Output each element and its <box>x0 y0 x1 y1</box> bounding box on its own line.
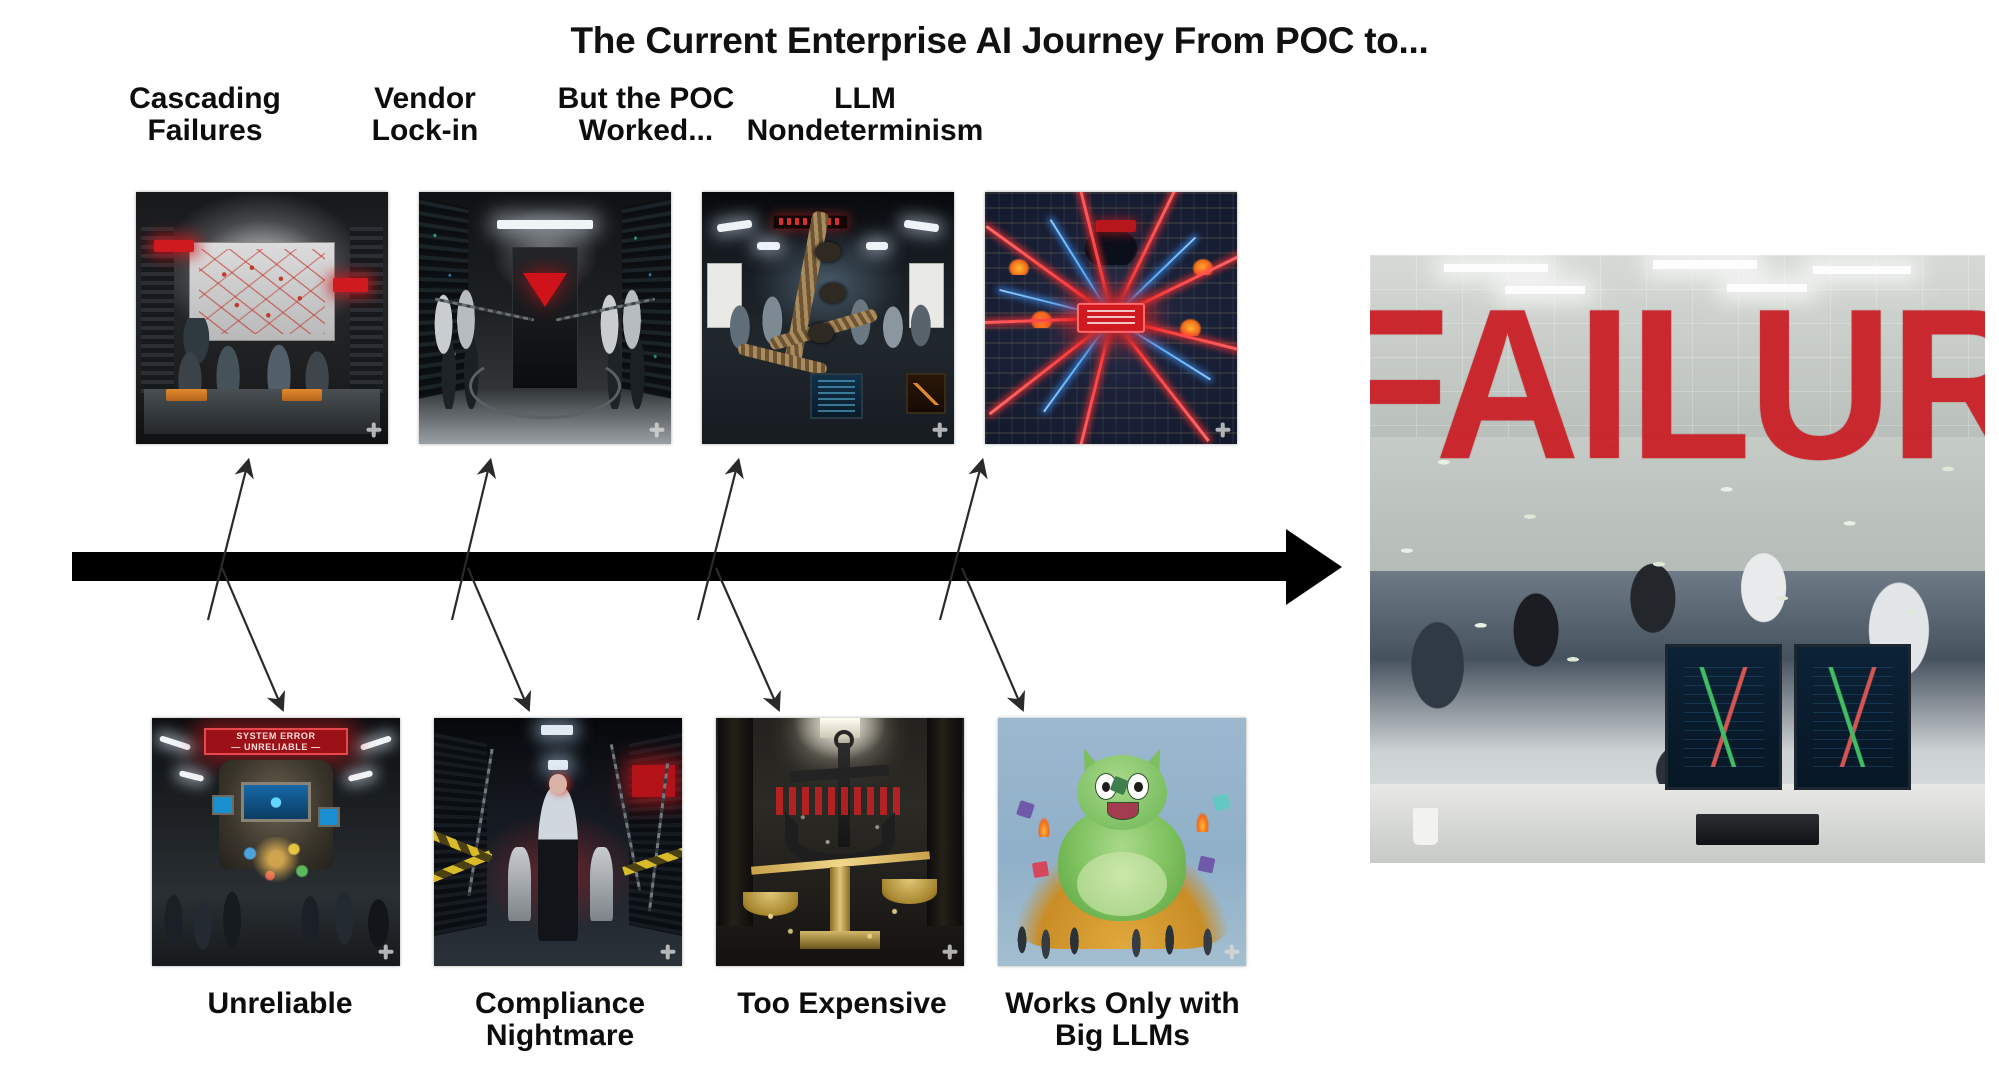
ai-sparkle-icon <box>942 944 957 959</box>
connector-to-unreliable <box>222 568 282 708</box>
connector-to-works-only-with-big-llms <box>962 568 1022 708</box>
image-cascading-failures[interactable] <box>136 192 388 444</box>
connector-to-compliance-nightmare <box>468 568 528 708</box>
keyboard <box>1696 814 1819 844</box>
ai-sparkle-icon <box>660 944 675 959</box>
connector-to-too-expensive <box>716 568 778 708</box>
desk-surface <box>1370 784 1985 863</box>
page-title: The Current Enterprise AI Journey From P… <box>0 20 1999 62</box>
ai-sparkle-icon <box>1224 944 1239 959</box>
caption-llm-nondeterminism: LLM Nondeterminism <box>740 83 990 148</box>
scene-red-lightning-warning <box>985 192 1237 444</box>
scene-tangled-ropes <box>702 192 954 444</box>
caption-cascading-failures: Cascading Failures <box>110 83 300 148</box>
ai-sparkle-icon <box>366 422 381 437</box>
caption-unreliable: Unreliable <box>160 988 400 1020</box>
slide-canvas: The Current Enterprise AI Journey From P… <box>0 0 1999 1071</box>
ai-sparkle-icon <box>932 422 947 437</box>
caption-works-only-with-big-llms: Works Only with Big LLMs <box>985 988 1260 1053</box>
coffee-cup <box>1413 808 1438 844</box>
vendor-v-logo-icon <box>523 273 567 307</box>
image-failure-outcome[interactable]: FAILURE <box>1370 255 1985 863</box>
caption-but-the-poc-worked: But the POC Worked... <box>551 83 741 148</box>
caption-compliance-nightmare: Compliance Nightmare <box>440 988 680 1053</box>
image-llm-nondeterminism[interactable] <box>985 192 1237 444</box>
image-vendor-lock-in[interactable] <box>419 192 671 444</box>
scene-server-room-whiteboard <box>136 192 388 444</box>
image-but-the-poc-worked[interactable] <box>702 192 954 444</box>
caption-too-expensive: Too Expensive <box>712 988 972 1020</box>
system-failure-warning-sign <box>1077 303 1145 333</box>
ai-sparkle-icon <box>378 944 393 959</box>
connector-arrows-down <box>0 560 1300 820</box>
trading-monitor-1 <box>1665 644 1782 790</box>
scene-datacenter-chains <box>419 192 671 444</box>
caption-vendor-lock-in: Vendor Lock-in <box>330 83 520 148</box>
ai-sparkle-icon <box>1215 422 1230 437</box>
trading-monitor-2 <box>1794 644 1911 790</box>
ai-sparkle-icon <box>649 422 664 437</box>
